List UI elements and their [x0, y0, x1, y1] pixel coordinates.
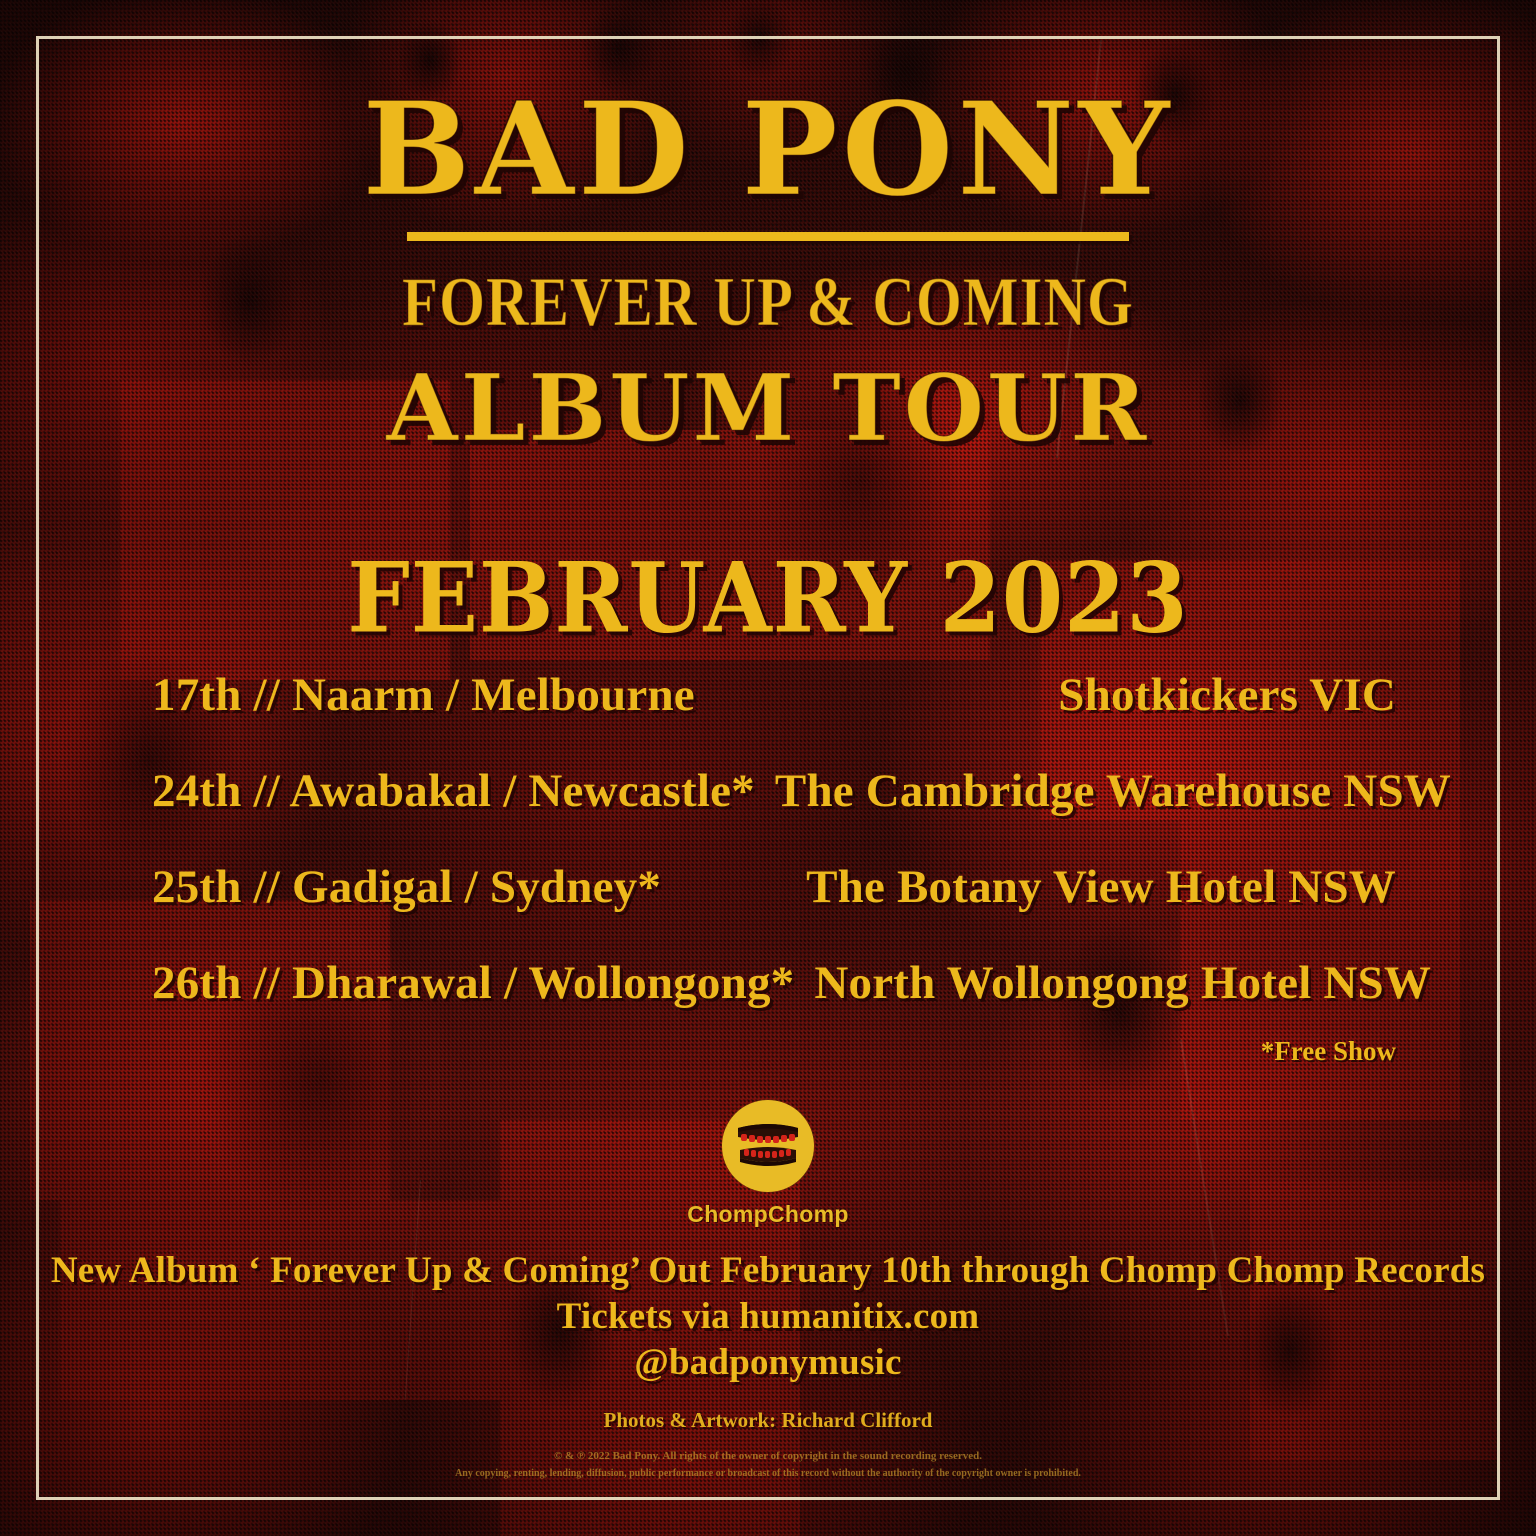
tour-date-city: 17th // Naarm / Melbourne [152, 668, 695, 722]
table-row: 26th // Dharawal / Wollongong* North Wol… [152, 956, 1396, 1052]
band-name: BAD PONY [0, 86, 1536, 214]
tour-date-city: 26th // Dharawal / Wollongong* [152, 956, 794, 1010]
label-logo-circle [722, 1100, 814, 1192]
tour-date-city: 25th // Gadigal / Sydney* [152, 860, 661, 914]
title-divider [407, 232, 1129, 241]
artwork-credit: Photos & Artwork: Richard Clifford [0, 1408, 1536, 1433]
table-row: 17th // Naarm / Melbourne Shotkickers VI… [152, 668, 1396, 764]
tour-date: 26th // [152, 957, 280, 1009]
copyright-line: © & ℗ 2022 Bad Pony. All rights of the o… [0, 1448, 1536, 1465]
tour-date-city: 24th // Awabakal / Newcastle* [152, 764, 755, 818]
tour-date: 24th // [152, 765, 280, 817]
tour-city: Dharawal / Wollongong* [292, 957, 794, 1009]
title-block: BAD PONY FOREVER UP & COMING ALBUM TOUR [0, 86, 1536, 454]
tour-city: Naarm / Melbourne [292, 669, 695, 721]
tour-city: Gadigal / Sydney* [292, 861, 661, 913]
label-name: ChompChomp [0, 1201, 1536, 1228]
tour-month: FEBRUARY 2023 [0, 540, 1536, 654]
tour-date: 25th // [152, 861, 280, 913]
tour-date: 17th // [152, 669, 280, 721]
tour-poster: BAD PONY FOREVER UP & COMING ALBUM TOUR … [0, 0, 1536, 1536]
tickets-line: Tickets via humanitix.com [0, 1294, 1536, 1340]
tour-date-list: 17th // Naarm / Melbourne Shotkickers VI… [152, 668, 1396, 1052]
album-subtitle: FOREVER UP & COMING [0, 267, 1536, 337]
album-release-line: New Album ‘ Forever Up & Coming’ Out Feb… [0, 1248, 1536, 1294]
album-tour-heading: ALBUM TOUR [0, 362, 1536, 454]
tour-city: Awabakal / Newcastle* [289, 765, 754, 817]
chattering-teeth-icon [734, 1120, 802, 1172]
tour-venue: North Wollongong Hotel NSW [814, 956, 1431, 1010]
footer-info: New Album ‘ Forever Up & Coming’ Out Feb… [0, 1248, 1536, 1386]
tour-venue: The Cambridge Warehouse NSW [775, 764, 1451, 818]
tour-venue: The Botany View Hotel NSW [806, 860, 1396, 914]
tour-venue: Shotkickers VIC [1058, 668, 1396, 722]
reproduction-notice: Any copying, renting, lending, diffusion… [0, 1465, 1536, 1482]
free-show-note: *Free Show [1261, 1036, 1396, 1067]
record-label-logo: ChompChomp [0, 1100, 1536, 1228]
legal-notice: © & ℗ 2022 Bad Pony. All rights of the o… [0, 1448, 1536, 1482]
table-row: 25th // Gadigal / Sydney* The Botany Vie… [152, 860, 1396, 956]
table-row: 24th // Awabakal / Newcastle* The Cambri… [152, 764, 1396, 860]
social-handle: @badponymusic [0, 1340, 1536, 1386]
